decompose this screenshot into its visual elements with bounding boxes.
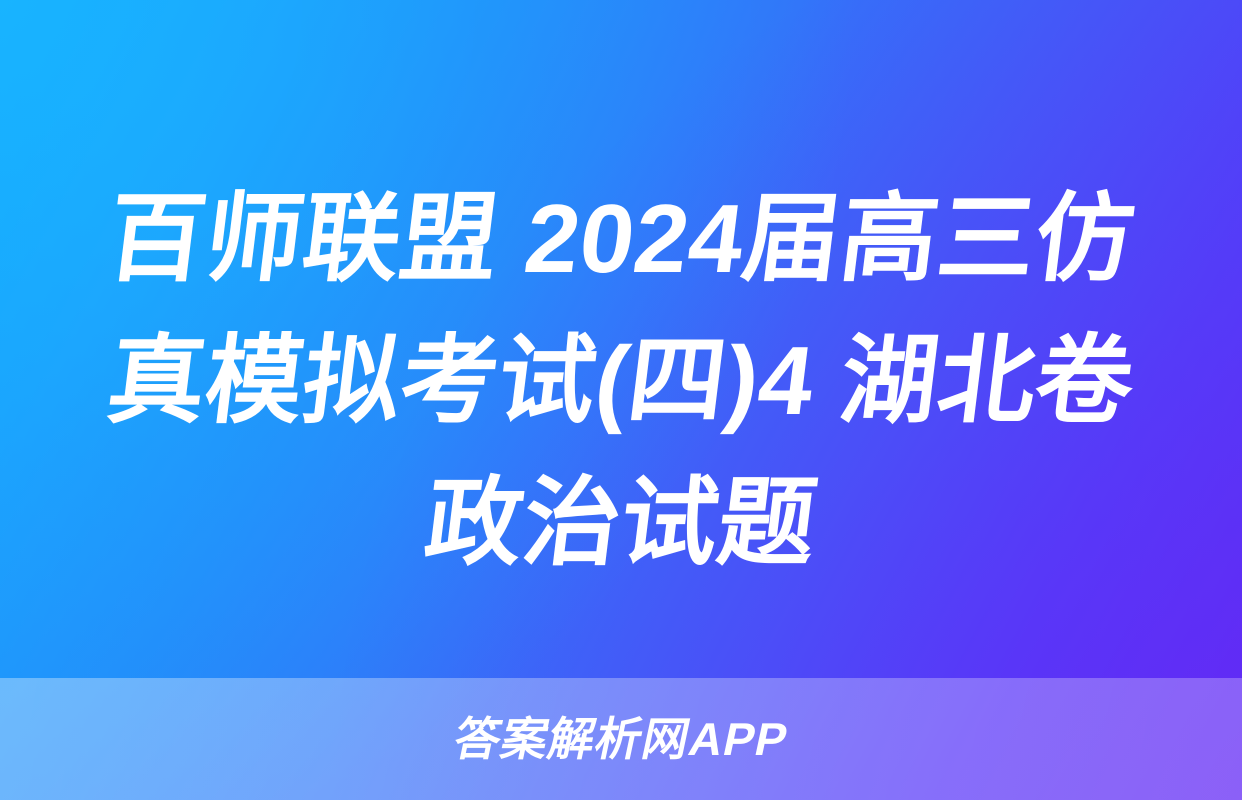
exam-title-block: 百师联盟 2024届高三仿 真模拟考试(四)4 湖北卷 政治试题 <box>0 168 1242 594</box>
app-watermark-label: 答案解析网APP <box>450 716 792 762</box>
exam-title-line-1: 百师联盟 2024届高三仿 <box>21 168 1220 310</box>
exam-title-line-2: 真模拟考试(四)4 湖北卷 <box>21 310 1220 452</box>
share-cover-card: 百师联盟 2024届高三仿 真模拟考试(四)4 湖北卷 政治试题 答案解析网AP… <box>0 0 1242 800</box>
exam-title-line-3: 政治试题 <box>21 452 1220 594</box>
footer-watermark-band: 答案解析网APP <box>0 678 1242 800</box>
